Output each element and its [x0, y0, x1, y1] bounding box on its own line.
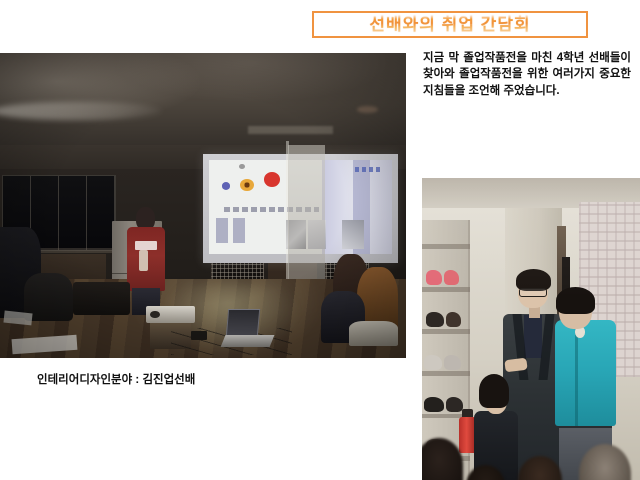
- seated-student-hair: [479, 374, 510, 407]
- backpack: [73, 282, 130, 316]
- shoe-shelf: [422, 329, 470, 334]
- ceiling-lamp: [357, 106, 377, 113]
- right-photo: [422, 178, 640, 480]
- shoe: [426, 270, 441, 285]
- doorway: [288, 145, 325, 285]
- jeep-logo: [135, 241, 157, 250]
- shoe-shelf: [422, 371, 470, 376]
- slide-dot-orange: [240, 179, 254, 191]
- shoe: [444, 355, 461, 370]
- window-pane: [59, 176, 87, 250]
- shoe: [446, 312, 461, 327]
- shoe: [424, 355, 441, 370]
- description-text: 지금 막 졸업작품전을 마친 4학년 선배들이 찾아와 졸업작품전을 위한 여러…: [423, 50, 631, 99]
- slide-dot-blue: [222, 182, 230, 190]
- shoe-shelf: [422, 244, 470, 249]
- left-photo: [0, 53, 406, 358]
- slide-block-b: [233, 218, 245, 243]
- seated-student: [349, 321, 398, 345]
- slide-title-banner: 선배와의 취업 간담회: [312, 11, 588, 38]
- power-adapter: [191, 331, 207, 340]
- right-photo-scene: [422, 178, 640, 480]
- page-title: 선배와의 취업 간담회: [369, 16, 530, 33]
- shoe: [444, 270, 459, 285]
- shoe: [426, 312, 443, 327]
- speaker-hand: [139, 250, 148, 271]
- senior2-teal-jacket: [555, 320, 616, 426]
- ceiling-vent: [248, 126, 333, 134]
- slide-block-a: [216, 218, 228, 243]
- senior-neck: [529, 306, 540, 318]
- laptop-keyboard: [221, 335, 275, 347]
- senior-shirt: [524, 315, 541, 357]
- glasses-icon: [519, 288, 547, 296]
- shoe-shelf: [422, 287, 470, 292]
- shoe: [424, 397, 444, 412]
- slide-canvas: { "slide": { "title": "선배와의 취업 간담회", "ti…: [0, 0, 640, 480]
- slide-dot-grey: [239, 164, 245, 169]
- slide-corner-mark: [355, 167, 381, 172]
- slide-dot-red: [264, 172, 280, 187]
- ceiling: [0, 53, 406, 148]
- shoe: [446, 397, 463, 412]
- description-block: 지금 막 졸업작품전을 마친 4학년 선배들이 찾아와 졸업작품전을 위한 여러…: [423, 50, 631, 99]
- window-pane: [87, 176, 115, 250]
- senior2-hair: [556, 287, 595, 314]
- left-photo-scene: [0, 53, 406, 358]
- laptop-screen: [226, 309, 261, 336]
- slide-thumbnail: [342, 220, 364, 248]
- left-photo-caption: 인테리어디자인분야 : 김진업선배: [37, 371, 195, 387]
